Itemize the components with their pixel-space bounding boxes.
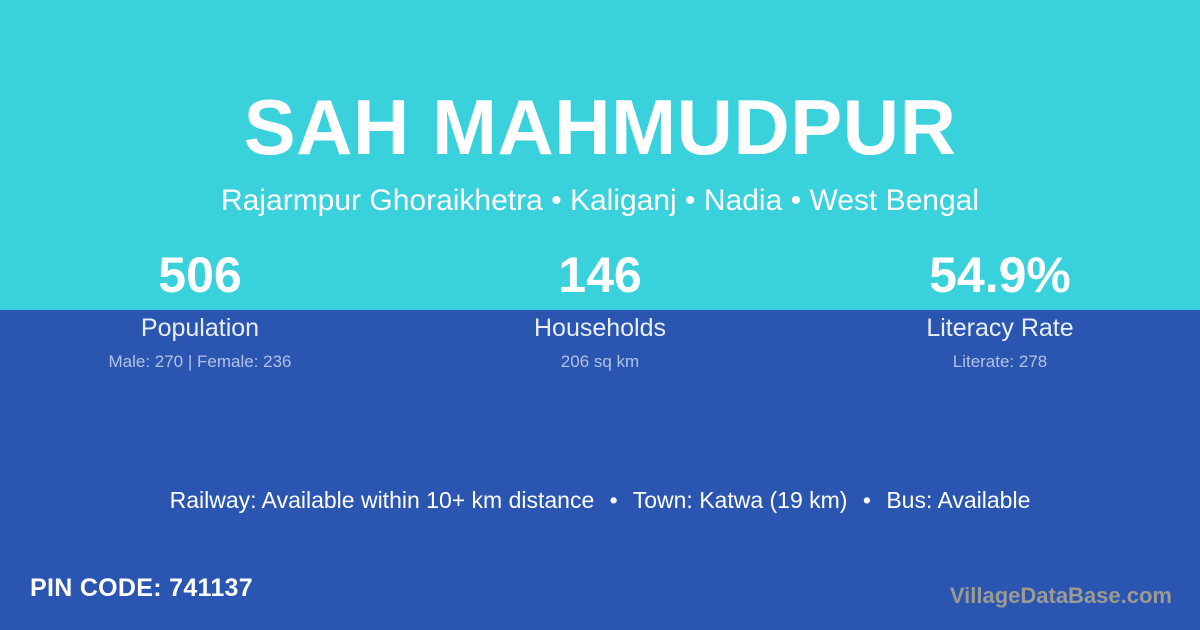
stat-value: 54.9% — [800, 247, 1200, 303]
location-breadcrumb: Rajarmpur Ghoraikhetra • Kaliganj • Nadi… — [0, 182, 1200, 220]
stat-label: Literacy Rate — [800, 313, 1200, 343]
stat-sublabel: 206 sq km — [400, 351, 800, 373]
infra-town: Town: Katwa (19 km) — [633, 487, 848, 513]
stat-label: Households — [400, 313, 800, 343]
infra-bus: Bus: Available — [886, 487, 1030, 513]
stat-households: 146 Households 206 sq km — [400, 247, 800, 373]
stat-value: 506 — [0, 247, 400, 303]
village-info-card: SAH MAHMUDPUR Rajarmpur Ghoraikhetra • K… — [0, 0, 1200, 630]
page-title: SAH MAHMUDPUR — [0, 84, 1200, 170]
stat-value: 146 — [400, 247, 800, 303]
stat-sublabel: Literate: 278 — [800, 351, 1200, 373]
infrastructure-line: Railway: Available within 10+ km distanc… — [0, 486, 1200, 515]
stat-literacy-rate: 54.9% Literacy Rate Literate: 278 — [800, 247, 1200, 373]
infra-separator-icon: • — [601, 486, 627, 515]
infra-railway: Railway: Available within 10+ km distanc… — [170, 487, 595, 513]
infra-separator-icon: • — [854, 486, 880, 515]
pin-code: PIN CODE: 741137 — [30, 572, 253, 604]
stats-row: 506 Population Male: 270 | Female: 236 1… — [0, 247, 1200, 373]
site-watermark: VillageDataBase.com — [950, 582, 1172, 610]
stat-label: Population — [0, 313, 400, 343]
stat-sublabel: Male: 270 | Female: 236 — [0, 351, 400, 373]
footer: PIN CODE: 741137 VillageDataBase.com — [0, 558, 1200, 630]
stat-population: 506 Population Male: 270 | Female: 236 — [0, 247, 400, 373]
